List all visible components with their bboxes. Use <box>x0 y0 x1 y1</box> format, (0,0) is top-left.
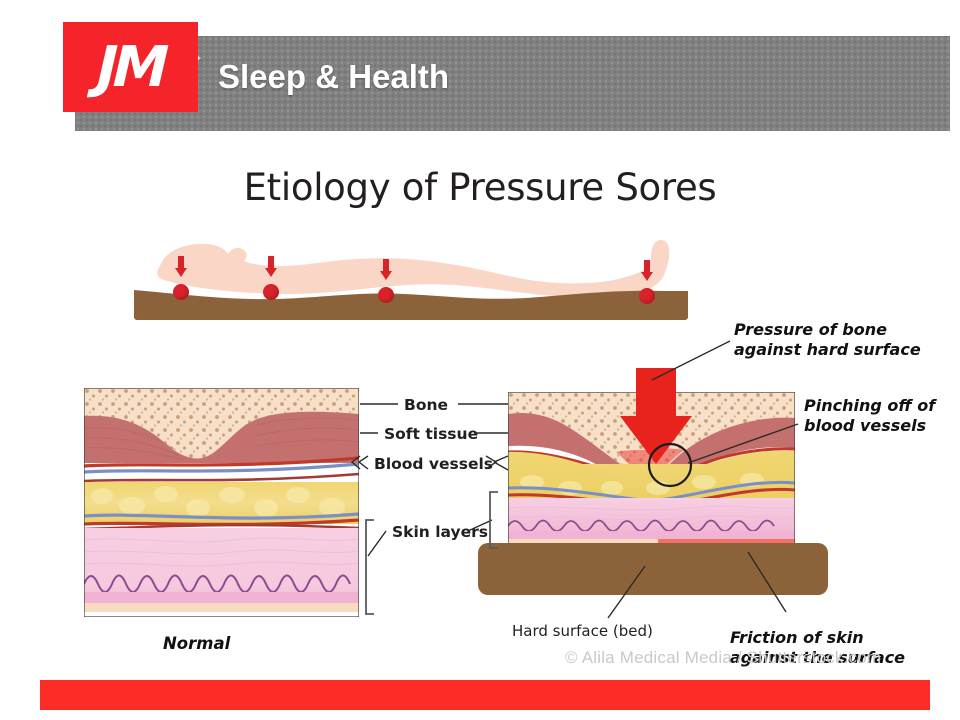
callout-pressure-line1: Pressure of bone <box>734 320 921 340</box>
callout-pinching-line2: blood vessels <box>804 416 935 436</box>
page-title: Sleep & Health <box>218 58 449 96</box>
footer-bar <box>40 680 930 710</box>
caption-normal: Normal <box>163 634 230 653</box>
jm-logo[interactable]: JM <box>63 22 198 112</box>
slide-canvas: ✦ ✦ ✦ ✦ JM Sleep & Health Etiology of Pr… <box>0 0 960 720</box>
caption-hard-surface: Hard surface (bed) <box>512 622 653 640</box>
callout-pinching: Pinching off of blood vessels <box>804 396 935 435</box>
callout-pinching-line1: Pinching off of <box>804 396 935 416</box>
callout-friction-line1: Friction of skin <box>730 628 905 648</box>
watermark: © Alila Medical Media / Shutterstock.com <box>565 648 881 668</box>
callout-pressure-of-bone: Pressure of bone against hard surface <box>734 320 921 359</box>
callout-pressure-line2: against hard surface <box>734 340 921 360</box>
jm-logo-text: JM <box>61 22 199 112</box>
